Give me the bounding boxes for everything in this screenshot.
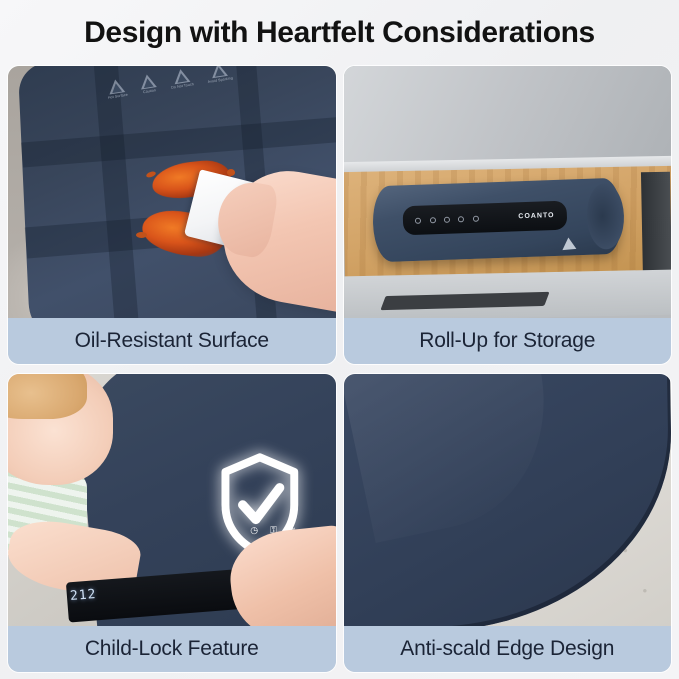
card-caption-anti-scald-edge-design: Anti-scald Edge Design: [344, 626, 672, 672]
oil-resistant-surface-photo: Hot Surface Caution Do Not Touch Avoid S…: [8, 66, 336, 318]
anti-scald-edge-design-photo: [344, 374, 672, 626]
page-title: Design with Heartfelt Considerations: [0, 16, 679, 50]
power-icon: [415, 217, 421, 223]
toddler-hair: [8, 374, 87, 419]
warning-triangle-icon: [172, 68, 190, 84]
countertop-slab: [344, 66, 672, 167]
lock-icon: [458, 216, 464, 222]
window-shadow-bar: [21, 116, 335, 168]
card-caption-oil-resistant-surface: Oil-Resistant Surface: [8, 318, 336, 364]
minus-icon: [429, 217, 435, 223]
feature-grid: Hot Surface Caution Do Not Touch Avoid S…: [8, 66, 671, 672]
child-lock-feature-photo: 212 COANTO ◷ ⚿ ⎈: [8, 374, 336, 626]
plus-icon: [473, 215, 479, 221]
warning-triangle-icon: [139, 73, 157, 89]
warning-triangle-icon: [561, 237, 576, 250]
card-caption-child-lock-feature: Child-Lock Feature: [8, 626, 336, 672]
feature-card-oil-resistant-surface[interactable]: Hot Surface Caution Do Not Touch Avoid S…: [8, 66, 336, 364]
temperature-display: 212: [70, 587, 98, 604]
feature-card-child-lock-feature[interactable]: 212 COANTO ◷ ⚿ ⎈ Child-Lock Feature: [8, 374, 336, 672]
warning-triangle-icon: [108, 78, 126, 94]
drawer-side-gap: [640, 172, 671, 283]
hot-surface-icon: Hot Surface: [106, 78, 129, 100]
timer-icon: ◷: [250, 525, 258, 536]
rolled-heating-mat: COANTO: [372, 178, 623, 262]
card-caption-roll-up-for-storage: Roll-Up for Storage: [344, 318, 672, 364]
roll-up-for-storage-photo: COANTO: [344, 66, 672, 318]
feature-card-roll-up-for-storage[interactable]: COANTO Roll-Up for Storage: [344, 66, 672, 364]
caution-icon: Caution: [139, 73, 158, 94]
brand-logo: COANTO: [518, 212, 554, 220]
feature-card-anti-scald-edge-design[interactable]: Anti-scald Edge Design: [344, 374, 672, 672]
do-not-touch-icon: Do Not Touch: [169, 67, 195, 89]
window-shadow-bar: [92, 66, 143, 318]
timer-icon: [444, 216, 450, 222]
control-panel: COANTO: [402, 201, 567, 235]
